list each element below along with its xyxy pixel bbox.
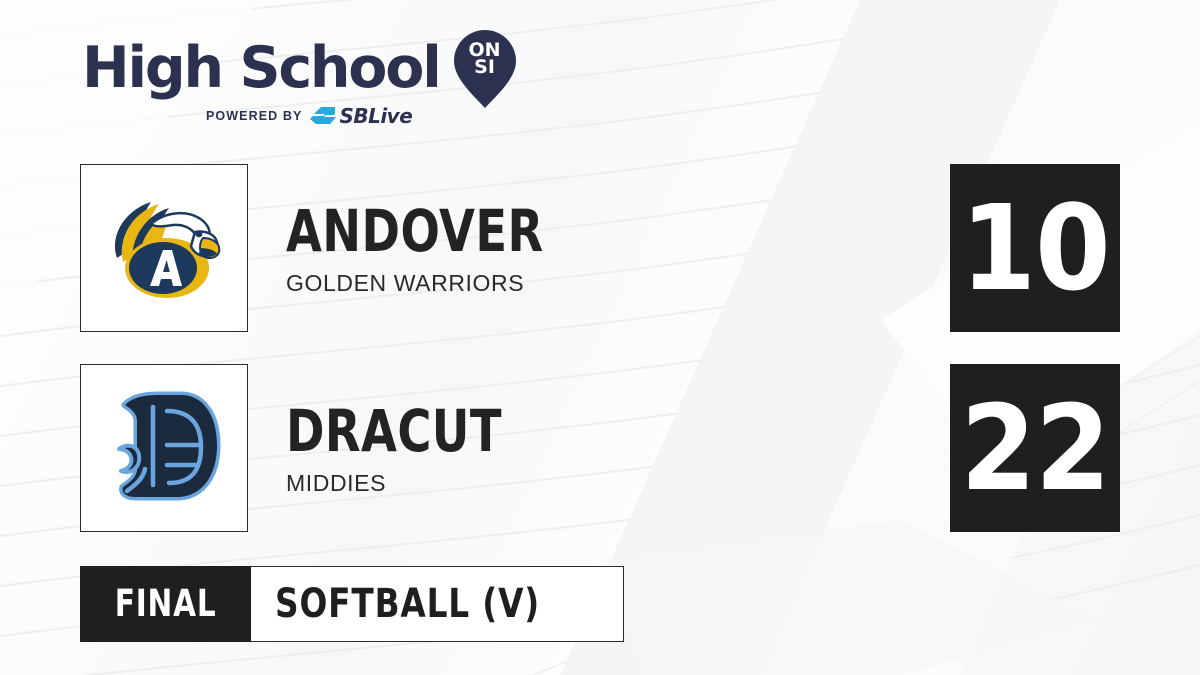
brand-wordmark: High School: [82, 39, 440, 97]
status-badge-label: FINAL: [115, 585, 217, 623]
team-score: 22: [960, 389, 1109, 507]
team-nickname: GOLDEN WARRIORS: [286, 270, 608, 296]
team-logo-box: [80, 364, 248, 532]
sport-label: SOFTBALL (V): [275, 584, 540, 625]
team-score: 10: [960, 189, 1109, 307]
andover-eagle-logo: [99, 188, 229, 308]
team-nickname: MIDDIES: [286, 470, 556, 496]
team-score-box: 22: [950, 364, 1120, 532]
team-row-home: DRACUT MIDDIES 22: [80, 364, 1120, 534]
brand-wordmark-row: High School ON SI: [82, 36, 512, 100]
sblive-wordmark: SBLive: [339, 106, 412, 126]
sblive-logo: SBLive: [310, 106, 412, 126]
team-info-away: ANDOVER GOLDEN WARRIORS: [286, 164, 608, 332]
on-si-pin-icon: ON SI: [454, 30, 516, 108]
team-score-box: 10: [950, 164, 1120, 332]
team-row-away: ANDOVER GOLDEN WARRIORS 10: [80, 164, 1120, 334]
team-name: DRACUT: [286, 401, 502, 461]
brand-header: High School ON SI POWERED BY: [82, 36, 512, 136]
pin-line-si: SI: [454, 59, 516, 76]
status-badge: FINAL: [80, 566, 251, 642]
team-logo-box: [80, 164, 248, 332]
powered-by-label: POWERED BY: [206, 109, 302, 123]
game-status-bar: FINAL SOFTBALL (V): [80, 566, 624, 642]
team-name: ANDOVER: [286, 201, 544, 261]
sblive-s-icon: [310, 106, 336, 126]
team-info-home: DRACUT MIDDIES: [286, 364, 556, 532]
sport-label-box: SOFTBALL (V): [251, 566, 623, 642]
scoreboard-graphic: High School ON SI POWERED BY: [0, 0, 1200, 675]
on-si-pin-text: ON SI: [454, 42, 516, 76]
dracut-old-english-d-logo: [105, 387, 223, 509]
powered-by-row: POWERED BY SBLive: [82, 106, 512, 126]
